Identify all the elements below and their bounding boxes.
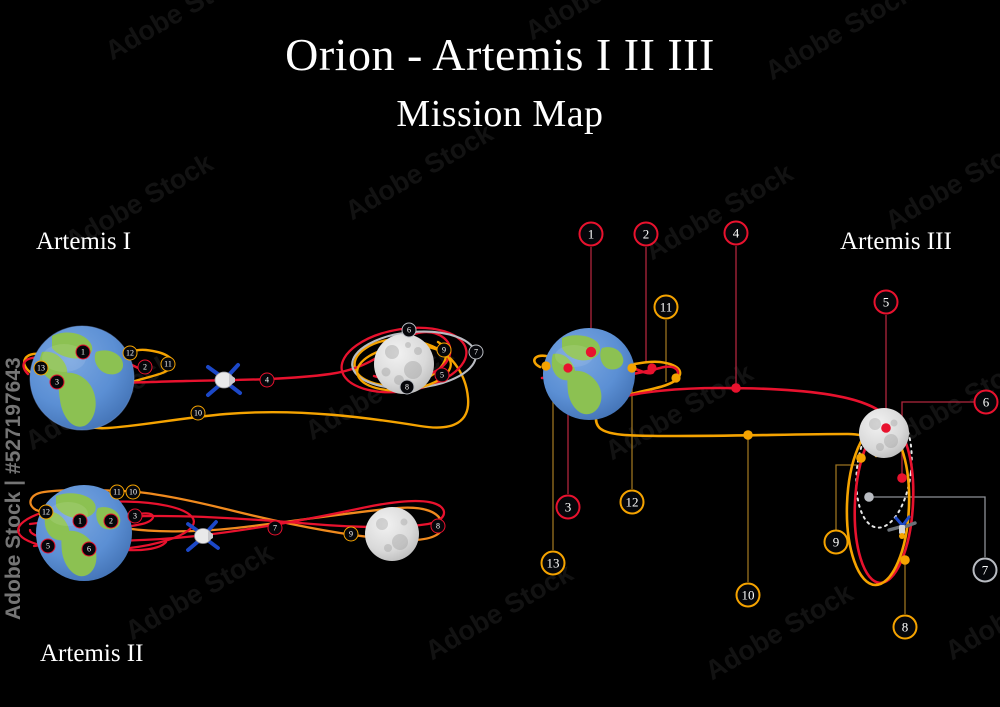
artemis-1-step-marker-8[interactable]: 8	[400, 380, 415, 395]
artemis-3-step-marker-7[interactable]: 7	[973, 558, 998, 583]
earth-artemis-1	[30, 326, 134, 430]
artemis-3-step-marker-3[interactable]: 3	[556, 495, 581, 520]
moon-artemis-3	[859, 408, 909, 458]
artemis-3-leader-lines	[553, 246, 985, 614]
artemis-1-step-marker-6[interactable]: 6	[402, 323, 417, 338]
artemis-1-step-marker-5[interactable]: 5	[435, 368, 450, 383]
artemis-3-step-marker-11[interactable]: 11	[654, 295, 679, 320]
artemis-2-step-marker-1[interactable]: 1	[73, 514, 88, 529]
artemis-3-diagram	[534, 246, 985, 614]
artemis-3-step-marker-9[interactable]: 9	[824, 530, 849, 555]
artemis-2-step-marker-3[interactable]: 3	[128, 509, 143, 524]
artemis-3-step-marker-5[interactable]: 5	[874, 290, 899, 315]
artemis-3-step-marker-6[interactable]: 6	[974, 390, 999, 415]
artemis-2-step-marker-9[interactable]: 9	[344, 527, 359, 542]
artemis-2-step-marker-6[interactable]: 6	[82, 542, 97, 557]
artemis-1-step-marker-9[interactable]: 9	[437, 343, 452, 358]
artemis-1-step-marker-3[interactable]: 3	[50, 375, 65, 390]
artemis-1-step-marker-13[interactable]: 13	[34, 361, 49, 376]
mission-map-poster: Adobe Stock Adobe Stock Adobe Stock Adob…	[0, 0, 1000, 707]
moon-artemis-2	[365, 507, 419, 561]
artemis-3-step-marker-8[interactable]: 8	[893, 615, 918, 640]
artemis-2-step-marker-8[interactable]: 8	[431, 519, 446, 534]
artemis-1-step-marker-4[interactable]: 4	[260, 373, 275, 388]
artemis-2-step-marker-7[interactable]: 7	[268, 521, 283, 536]
artemis-3-step-marker-13[interactable]: 13	[541, 551, 566, 576]
artemis-3-step-marker-1[interactable]: 1	[579, 222, 604, 247]
artemis-2-diagram	[17, 485, 444, 581]
artemis-2-step-marker-11[interactable]: 11	[110, 485, 125, 500]
artemis-1-step-marker-2[interactable]: 2	[138, 360, 153, 375]
artemis-3-step-marker-2[interactable]: 2	[634, 222, 659, 247]
artemis-2-step-marker-2[interactable]: 2	[104, 514, 119, 529]
artemis-1-step-marker-1[interactable]: 1	[76, 345, 91, 360]
artemis-1-step-marker-10[interactable]: 10	[191, 406, 206, 421]
artemis-2-step-marker-5[interactable]: 5	[41, 539, 56, 554]
trajectory-diagram	[0, 0, 1000, 707]
artemis-2-step-marker-10[interactable]: 10	[126, 485, 141, 500]
artemis-3-step-marker-4[interactable]: 4	[724, 221, 749, 246]
artemis-1-step-marker-7[interactable]: 7	[469, 345, 484, 360]
artemis-3-step-marker-12[interactable]: 12	[620, 490, 645, 515]
earth-artemis-3	[543, 328, 635, 420]
artemis-2-step-marker-12[interactable]: 12	[39, 505, 54, 520]
artemis-1-step-marker-12[interactable]: 12	[123, 346, 138, 361]
artemis-1-step-marker-11[interactable]: 11	[161, 357, 176, 372]
artemis-3-step-marker-10[interactable]: 10	[736, 583, 761, 608]
